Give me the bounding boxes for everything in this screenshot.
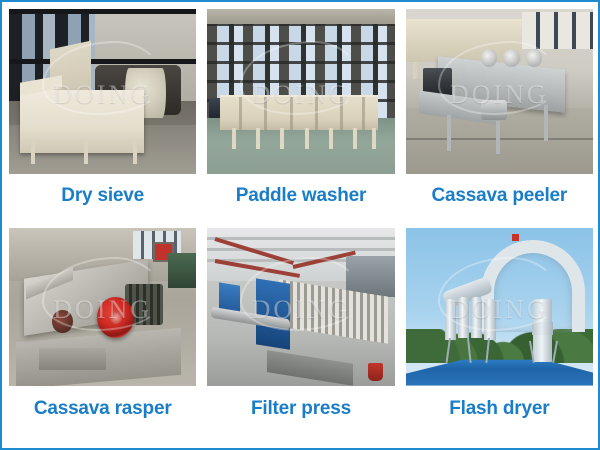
cyclone-separator <box>458 297 469 338</box>
machine-leg <box>329 128 333 149</box>
photo-cassava-rasper[interactable]: DOING <box>9 228 196 386</box>
roof-purlin <box>207 248 394 251</box>
dryer-cone-joint <box>532 322 553 335</box>
background-window <box>522 12 593 48</box>
ceiling-beam <box>9 9 196 14</box>
secondary-pulley <box>52 310 73 334</box>
photo-paddle-washer[interactable]: DOING <box>207 9 394 174</box>
machine-gallery-grid: DOING Dry sieve <box>9 9 593 442</box>
base-plate <box>39 348 106 370</box>
cyclone-separator <box>471 297 482 338</box>
sieve-body-panel <box>20 90 144 153</box>
machine-leg <box>372 128 376 149</box>
trough-rib <box>239 97 242 130</box>
trough-rib <box>362 97 365 130</box>
caption-filter-press: Filter press <box>251 399 351 418</box>
gallery-item-filter-press[interactable]: DOING Filter press <box>207 228 394 443</box>
trough-rib <box>264 97 267 130</box>
machine-leg <box>133 141 137 164</box>
machine-leg <box>84 141 88 164</box>
upper-wall-band <box>207 9 394 24</box>
trough-rib <box>315 97 318 130</box>
washer-trough <box>220 95 377 130</box>
roof-purlin <box>207 237 394 240</box>
photo-flash-dryer[interactable]: DOING <box>406 228 593 386</box>
gallery-item-cassava-peeler[interactable]: DOING Cassava peeler <box>406 9 593 224</box>
gallery-item-paddle-washer[interactable]: DOING Paddle washer <box>207 9 394 224</box>
red-bucket <box>368 363 383 380</box>
machine-leg <box>447 115 451 151</box>
gallery-item-flash-dryer[interactable]: DOING Flash dryer <box>406 228 593 443</box>
machine-leg <box>232 128 236 149</box>
chute-motor <box>481 100 507 120</box>
machine-leg <box>353 128 357 149</box>
red-flag-icon <box>512 234 519 241</box>
image-frame: DOING Dry sieve <box>0 0 600 450</box>
brush-roller <box>481 49 498 67</box>
machine-leg <box>544 105 548 141</box>
photo-filter-press[interactable]: DOING <box>207 228 394 386</box>
machine-leg <box>31 141 35 164</box>
machine-leg <box>280 128 284 149</box>
caption-paddle-washer: Paddle washer <box>236 186 366 205</box>
cyclone-separator <box>445 299 456 340</box>
caption-dry-sieve: Dry sieve <box>61 186 144 205</box>
caption-cassava-rasper: Cassava rasper <box>34 399 172 418</box>
tree-line <box>406 329 593 364</box>
machine-leg <box>305 128 309 149</box>
window-mullion <box>9 59 196 64</box>
machine-leg <box>256 128 260 149</box>
brush-roller <box>503 49 520 67</box>
photo-cassava-peeler[interactable]: DOING <box>406 9 593 174</box>
gallery-item-cassava-rasper[interactable]: DOING Cassava rasper <box>9 228 196 443</box>
photo-dry-sieve[interactable]: DOING <box>9 9 196 174</box>
trough-rib <box>290 97 293 130</box>
trough-rib <box>340 97 343 130</box>
brush-roller <box>526 49 543 67</box>
cyclone-separator <box>484 299 495 340</box>
caption-cassava-peeler: Cassava peeler <box>432 186 568 205</box>
gallery-item-dry-sieve[interactable]: DOING Dry sieve <box>9 9 196 224</box>
machine-leg <box>496 121 500 154</box>
caption-flash-dryer: Flash dryer <box>449 399 549 418</box>
background-green-machine <box>168 253 196 288</box>
